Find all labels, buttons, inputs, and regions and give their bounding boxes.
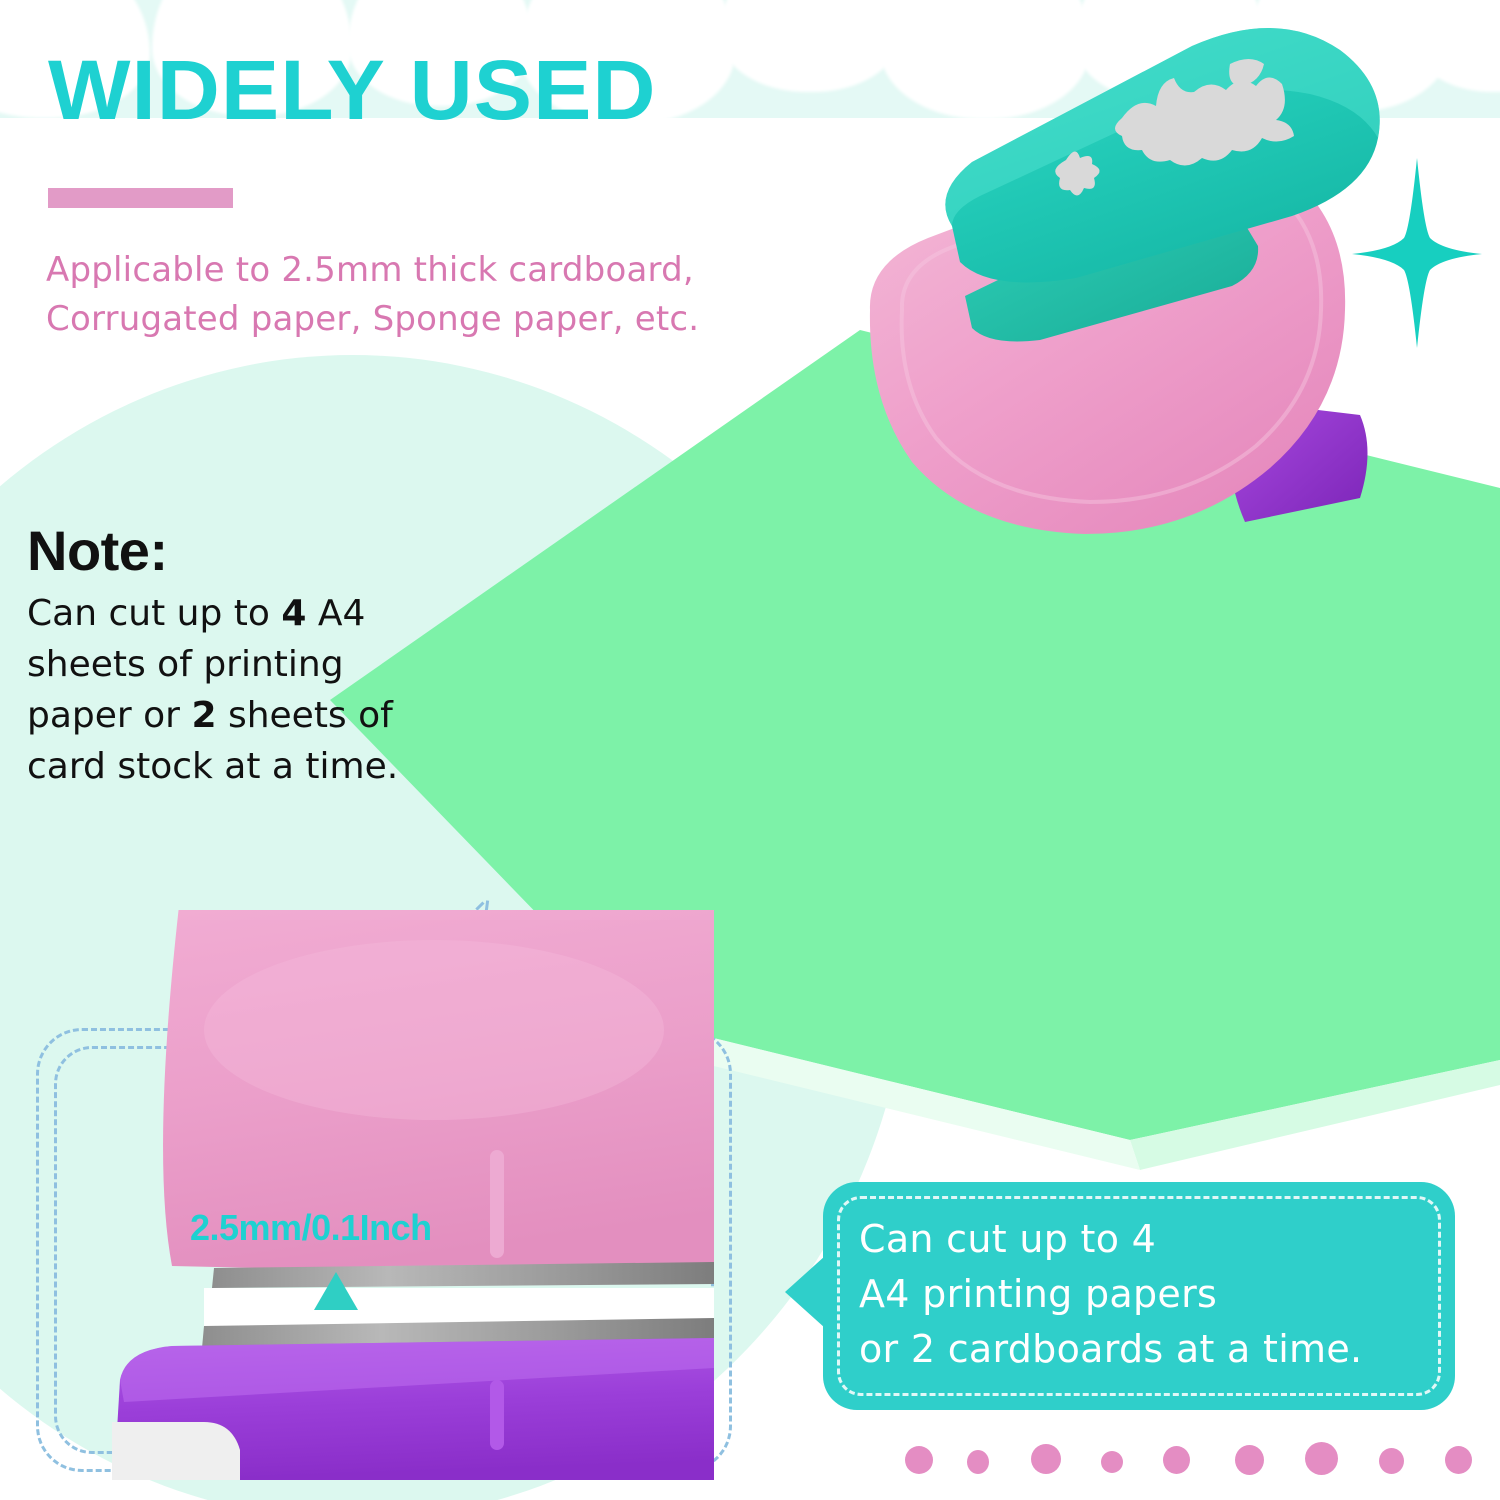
subtitle-line-1: Applicable to 2.5mm thick cardboard, — [46, 246, 806, 295]
craft-paper-punch-tool — [840, 10, 1420, 570]
note-heading: Note: — [27, 518, 168, 583]
note-count-4: 4 — [281, 593, 306, 634]
callout-line-3: or 2 cardboards at a time. — [859, 1322, 1431, 1377]
dot — [1445, 1446, 1472, 1474]
subtitle-line-2: Corrugated paper, Sponge paper, etc. — [46, 295, 806, 344]
thickness-label: 2.5mm/0.1Inch — [190, 1207, 432, 1249]
subtitle-text: Applicable to 2.5mm thick cardboard, Cor… — [46, 246, 806, 344]
title-accent-bar — [48, 188, 233, 208]
page-title: WIDELY USED — [48, 48, 657, 132]
speech-bubble-tail-icon — [785, 1256, 825, 1328]
dot — [1031, 1444, 1061, 1474]
dot — [1379, 1448, 1404, 1474]
dot — [905, 1446, 933, 1474]
up-triangle-marker-icon — [314, 1272, 358, 1310]
infographic-canvas: WIDELY USED Applicable to 2.5mm thick ca… — [0, 0, 1500, 1500]
note-count-2: 2 — [191, 695, 216, 736]
dot — [1101, 1451, 1123, 1473]
note-body: Can cut up to 4 A4 sheets of printing pa… — [27, 588, 427, 792]
capacity-callout-bubble: Can cut up to 4 A4 printing papers or 2 … — [823, 1182, 1455, 1410]
dot — [1305, 1442, 1338, 1475]
dot — [967, 1450, 989, 1474]
note-line-4: card stock at a time. — [27, 741, 427, 792]
dot — [1235, 1445, 1264, 1475]
decorative-dot-row — [905, 1440, 1465, 1480]
note-line-2: sheets of printing — [27, 639, 427, 690]
punch-cross-section-photo — [54, 910, 714, 1480]
dot — [1163, 1446, 1190, 1474]
four-point-sparkle-icon — [1352, 158, 1482, 348]
note-line-1: Can cut up to 4 A4 — [27, 588, 427, 639]
callout-line-2: A4 printing papers — [859, 1267, 1431, 1322]
note-line-3: paper or 2 sheets of — [27, 690, 427, 741]
callout-text: Can cut up to 4 A4 printing papers or 2 … — [859, 1212, 1431, 1377]
callout-line-1: Can cut up to 4 — [859, 1212, 1431, 1267]
